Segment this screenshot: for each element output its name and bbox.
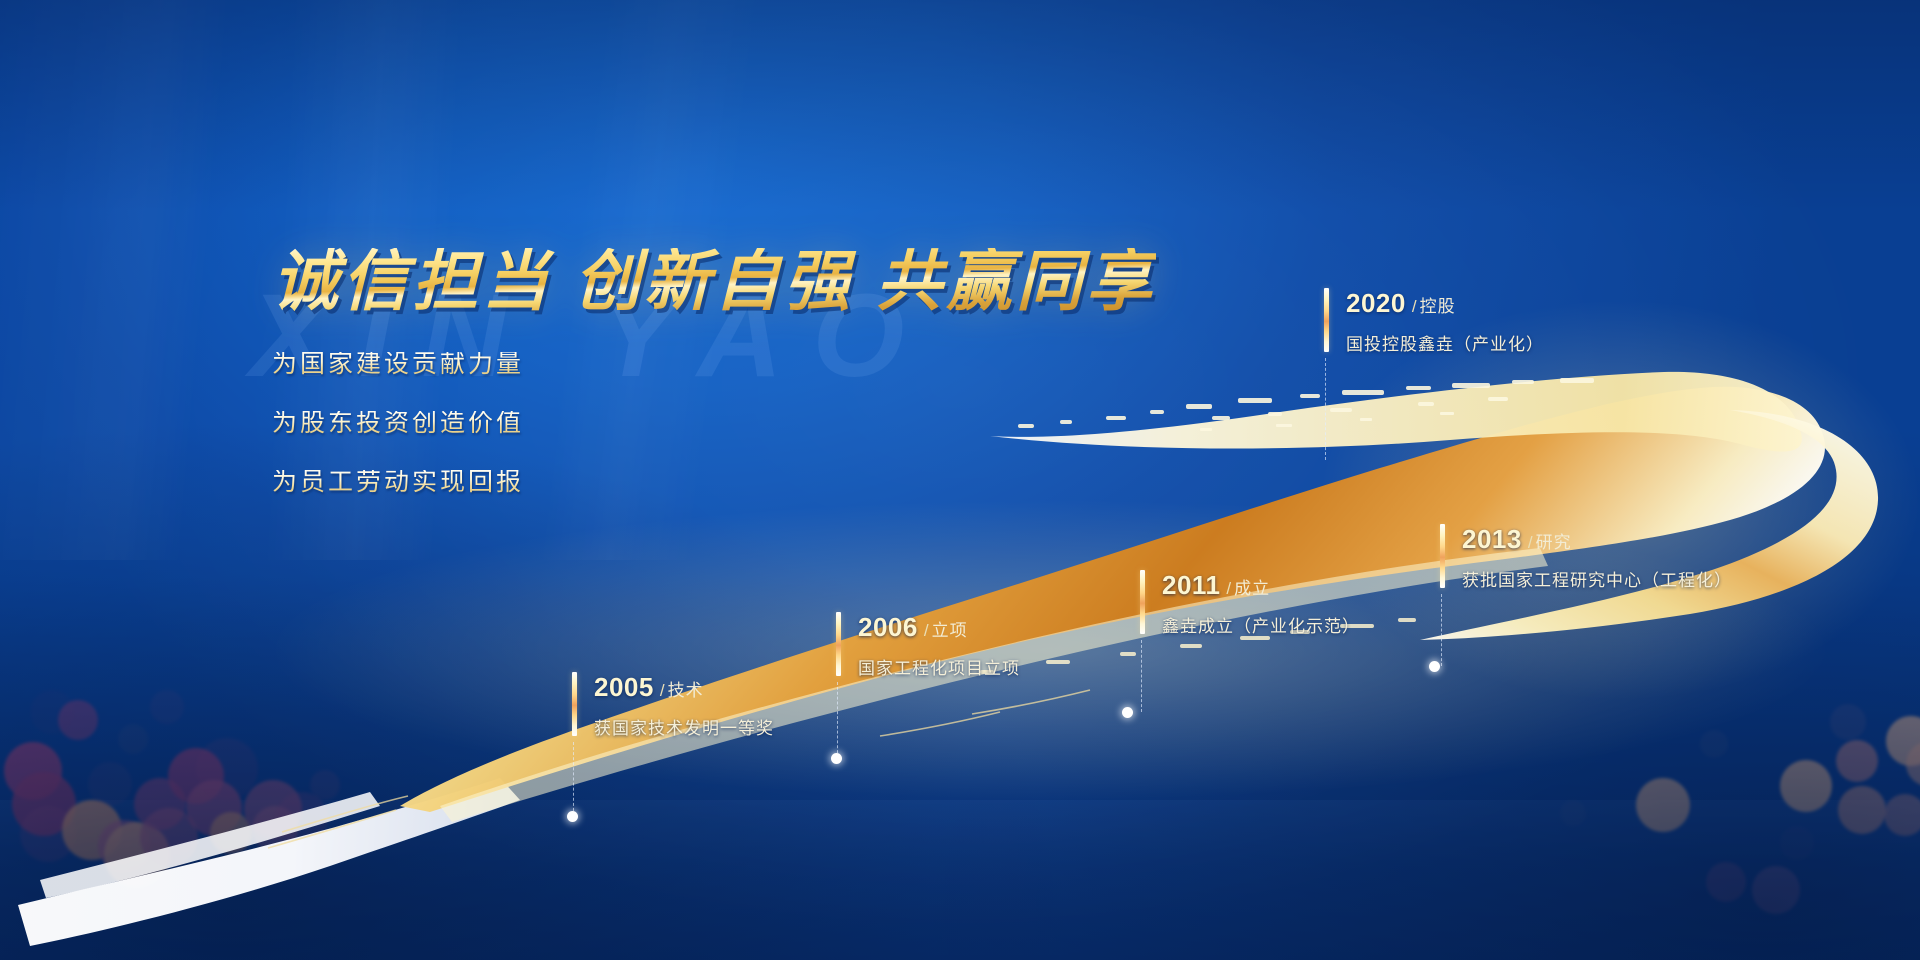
milestone-separator: /: [924, 621, 929, 640]
milestone-leader-line: [1325, 358, 1326, 460]
milestone-heading: 2011/成立: [1162, 570, 1360, 601]
milestone-2020[interactable]: 2020/控股国投控股鑫垚（产业化）: [1324, 288, 1544, 355]
milestone-year: 2020: [1346, 288, 1406, 318]
milestone-text-block: 2020/控股国投控股鑫垚（产业化）: [1346, 288, 1544, 355]
creed-line: 为股东投资创造价值: [272, 411, 524, 436]
creed-list: 为国家建设贡献力量 为股东投资创造价值 为员工劳动实现回报: [272, 352, 524, 529]
milestone-text-block: 2013/研究获批国家工程研究中心（工程化）: [1462, 524, 1732, 591]
milestone-year: 2013: [1462, 524, 1522, 554]
milestone-dot[interactable]: [831, 753, 842, 764]
milestone-text-block: 2006/立项国家工程化项目立项: [858, 612, 1020, 679]
banner-stage: XIN YAO 诚信担当创新自强共赢同享 为国家建设贡献力量 为股东投资创造价值…: [0, 0, 1920, 960]
milestone-tag: 研究: [1536, 533, 1572, 552]
milestone-description: 获批国家工程研究中心（工程化）: [1462, 566, 1732, 591]
milestone-leader-line: [573, 742, 574, 816]
milestone-separator: /: [660, 681, 665, 700]
milestone-tag: 成立: [1234, 579, 1270, 598]
milestone-2006[interactable]: 2006/立项国家工程化项目立项: [836, 612, 1020, 679]
milestone-separator: /: [1226, 579, 1231, 598]
milestone-tag: 技术: [668, 681, 704, 700]
milestone-accent-bar: [1324, 288, 1329, 352]
milestone-heading: 2020/控股: [1346, 288, 1544, 319]
headline-phrase-2: 创新自强: [574, 244, 854, 318]
milestone-year: 2011: [1162, 570, 1220, 600]
milestone-accent-bar: [1140, 570, 1145, 634]
milestone-heading: 2006/立项: [858, 612, 1020, 643]
milestone-2005[interactable]: 2005/技术获国家技术发明一等奖: [572, 672, 774, 739]
milestone-leader-line: [1441, 594, 1442, 666]
milestone-heading: 2005/技术: [594, 672, 774, 703]
milestone-description: 获国家技术发明一等奖: [594, 714, 774, 739]
headline-phrase-3: 共赢同享: [876, 244, 1156, 318]
milestone-accent-bar: [1440, 524, 1445, 588]
milestone-dot[interactable]: [1122, 707, 1133, 718]
milestone-heading: 2013/研究: [1462, 524, 1732, 555]
milestone-description: 国家工程化项目立项: [858, 654, 1020, 679]
milestone-accent-bar: [572, 672, 577, 736]
milestone-year: 2005: [594, 672, 654, 702]
headline-phrase-1: 诚信担当: [272, 244, 552, 318]
milestone-leader-line: [1141, 640, 1142, 712]
milestone-text-block: 2011/成立鑫垚成立（产业化示范）: [1162, 570, 1360, 637]
milestone-2013[interactable]: 2013/研究获批国家工程研究中心（工程化）: [1440, 524, 1732, 591]
milestone-separator: /: [1412, 297, 1417, 316]
creed-line: 为国家建设贡献力量: [272, 352, 524, 377]
milestone-separator: /: [1528, 533, 1533, 552]
milestone-leader-line: [837, 682, 838, 758]
milestone-tag: 控股: [1420, 297, 1456, 316]
milestone-description: 鑫垚成立（产业化示范）: [1162, 612, 1360, 637]
milestone-dot[interactable]: [1429, 661, 1440, 672]
milestone-dot[interactable]: [567, 811, 578, 822]
milestone-description: 国投控股鑫垚（产业化）: [1346, 330, 1544, 355]
page-title: 诚信担当创新自强共赢同享: [272, 248, 1156, 314]
milestone-year: 2006: [858, 612, 918, 642]
milestone-tag: 立项: [932, 621, 968, 640]
milestone-accent-bar: [836, 612, 841, 676]
creed-line: 为员工劳动实现回报: [272, 470, 524, 495]
milestone-text-block: 2005/技术获国家技术发明一等奖: [594, 672, 774, 739]
milestone-2011[interactable]: 2011/成立鑫垚成立（产业化示范）: [1140, 570, 1360, 637]
